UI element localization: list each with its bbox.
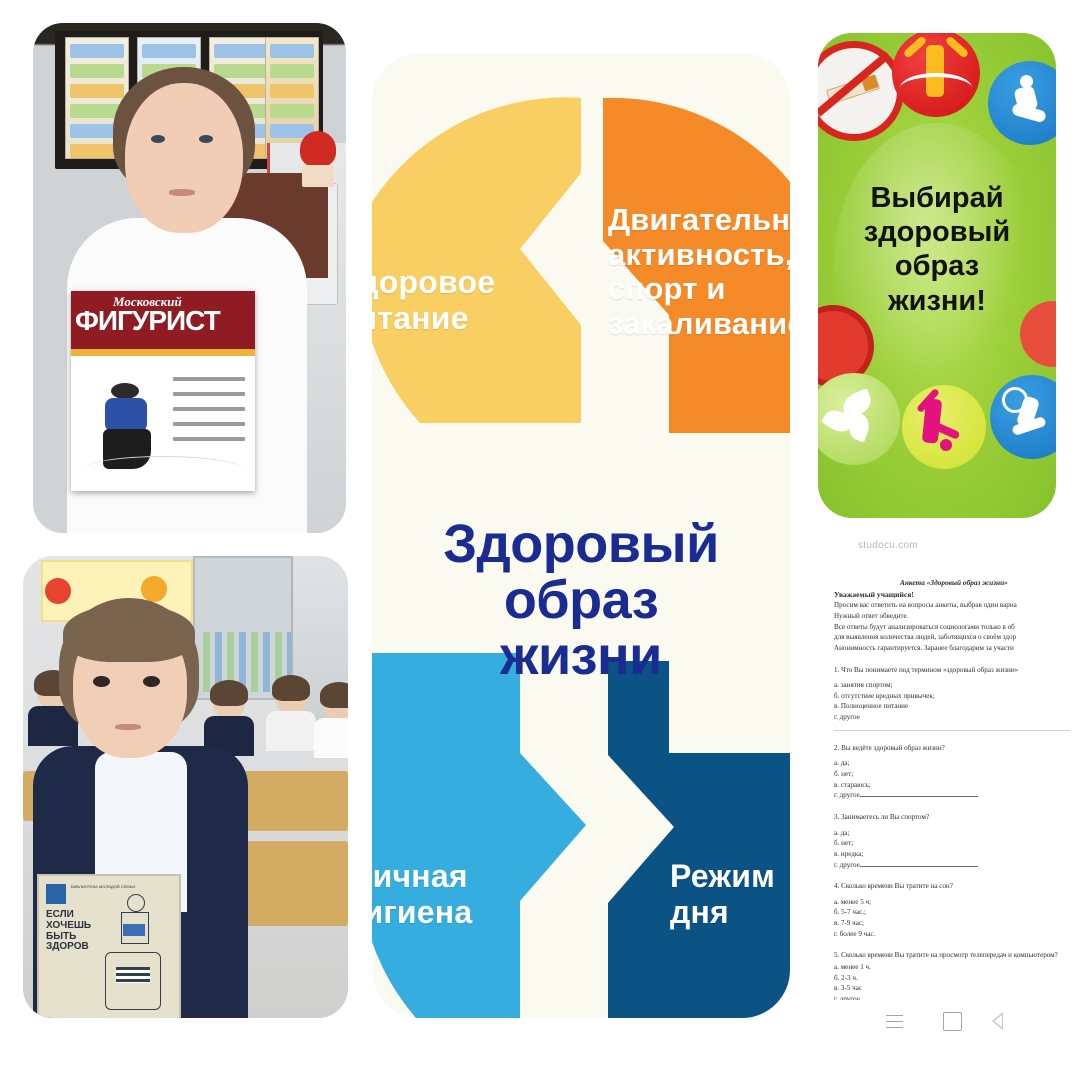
option[interactable]: б. 5-7 час.; — [834, 907, 1080, 918]
question-2: 2. Вы ведёте здоровый образ жизни? — [834, 743, 1080, 754]
write-in-blank[interactable] — [860, 790, 978, 797]
classmate-3 — [275, 681, 307, 715]
question-1-options: а. занятия спортом; б. отсутствие вредны… — [834, 680, 1080, 723]
option[interactable]: в. 3-5 час — [834, 983, 1080, 994]
option[interactable]: б. нет; — [834, 769, 1080, 780]
survey-intro-line-5: Анонимность гарантируется. Заранее благо… — [834, 643, 1080, 654]
ice-rink-line — [83, 456, 243, 483]
main-girl-mouth — [115, 724, 141, 730]
question-3-text: Занимаетесь ли Вы спортом? — [841, 813, 929, 821]
question-5-text: Сколько времени Вы тратите на просмотр т… — [841, 951, 1058, 959]
no-smoking-icon — [818, 41, 904, 141]
studocu-watermark: studocu.com — [858, 540, 918, 551]
gymnast-icon — [892, 33, 980, 117]
hamburger-icon[interactable] — [886, 1013, 903, 1030]
triangle-left-icon[interactable] — [1003, 1012, 1014, 1030]
flower-cutout-orange — [141, 576, 167, 602]
survey-intro-line-1: Просим вас ответить на вопросы анкеты, в… — [834, 600, 1080, 611]
photo-girl-in-classroom[interactable]: БИБЛИОТЕКА МОЛОДОЙ СЕМЬИ ЕСЛИ ХОЧЕШЬ БЫТ… — [23, 556, 348, 1018]
question-1-text: Что Вы понимаете под термином «здоровый … — [841, 666, 1018, 674]
magazine-masthead: Московский ФИГУРИСТ — [71, 291, 255, 349]
survey-body: Анкета «Здоровый образ жизни» Уважаемый … — [834, 578, 1080, 1014]
girl-eye-right — [199, 135, 213, 143]
question-4-number: 4. — [834, 882, 839, 890]
option[interactable]: а. да; — [834, 828, 1080, 839]
option[interactable]: в. иредка; — [834, 849, 1080, 860]
option[interactable]: а. менее 5 ч; — [834, 897, 1080, 908]
segment-label-hygiene: Личная гигиена — [372, 859, 472, 931]
question-3-number: 3. — [834, 813, 839, 821]
main-girl-eye-right — [143, 676, 160, 687]
option-label: г. другое — [834, 861, 860, 869]
book-title: ЕСЛИ ХОЧЕШЬ БЫТЬ ЗДОРОВ — [46, 910, 91, 953]
magazine-gold-bar — [71, 349, 255, 356]
magazine-main-title: ФИГУРИСТ — [75, 307, 220, 335]
question-divider — [834, 730, 1070, 732]
girl-eye-left — [151, 135, 165, 143]
survey-intro-line-3: Все ответы будут анализироваться социоло… — [834, 622, 1080, 633]
classmate-2 — [213, 686, 245, 720]
option[interactable]: в. Полноценное питание — [834, 701, 1080, 712]
question-3-options: а. да; б. нет; в. иредка; г. другое — [834, 828, 1080, 871]
tennis-player-icon — [990, 375, 1056, 459]
book-series-label: БИБЛИОТЕКА МОЛОДОЙ СЕМЬИ — [71, 885, 135, 890]
question-1-number: 1. — [834, 666, 839, 674]
question-1: 1. Что Вы понимаете под термином «здоров… — [834, 665, 1080, 676]
option[interactable]: а. занятия спортом; — [834, 680, 1080, 691]
footballer-icon — [902, 385, 986, 469]
option-with-blank[interactable]: г. другое — [834, 790, 1080, 801]
segment-regime-shape — [608, 661, 790, 1018]
question-2-options: а. да; б. нет; в. стараюсь; г. другое — [834, 758, 1080, 801]
book-illustration — [99, 894, 173, 1012]
option-label: г. другое — [834, 791, 860, 799]
option[interactable]: в. 7-9 час; — [834, 918, 1080, 929]
runner-icon — [988, 61, 1056, 145]
option-with-blank[interactable]: г. другое — [834, 860, 1080, 871]
photo-girl-with-magazine[interactable]: Московский ФИГУРИСТ — [33, 23, 346, 533]
question-5-number: 5. — [834, 951, 839, 959]
write-in-blank[interactable] — [860, 860, 978, 867]
healthy-lifestyle-cycle-infographic[interactable]: Здоровое питание Двигательная активность… — [372, 53, 790, 1018]
option[interactable]: в. стараюсь; — [834, 780, 1080, 791]
girl-mouth — [169, 189, 195, 196]
survey-greeting: Уважаемый учащийся! — [834, 589, 1080, 600]
choose-healthy-lifestyle-poster[interactable]: Выбирай здоровый образ жизни! — [818, 33, 1056, 518]
segment-label-activity: Двигательная активность, спорт и закалив… — [608, 203, 790, 342]
option[interactable]: б. нет; — [834, 838, 1080, 849]
segment-nutrition-shape — [372, 97, 581, 423]
survey-intro-line-4: для выявления количества людей, заботящи… — [834, 632, 1080, 643]
question-3: 3. Занимаетесь ли Вы спортом? — [834, 812, 1080, 823]
survey-questionnaire-document[interactable]: studocu.com Анкета «Здоровый образ жизни… — [820, 528, 1080, 1018]
option[interactable]: б. 2-3 ч. — [834, 973, 1080, 984]
survey-title: Анкета «Здоровый образ жизни» — [900, 578, 1080, 589]
question-2-text: Вы ведёте здоровый образ жизни? — [841, 744, 945, 752]
android-navigation-bar — [820, 1000, 1080, 1046]
magazine-headline-list — [173, 377, 245, 452]
main-girl-bangs — [63, 604, 195, 662]
question-5-options: а. менее 1 ч. б. 2-3 ч. в. 3-5 час г. др… — [834, 962, 1080, 1005]
question-4-options: а. менее 5 ч; б. 5-7 час.; в. 7-9 час; г… — [834, 897, 1080, 940]
option[interactable]: г. более 9 час. — [834, 929, 1080, 940]
question-4: 4. Сколько времени Вы тратите на сон? — [834, 881, 1080, 892]
option[interactable]: а. менее 1 ч. — [834, 962, 1080, 973]
question-5: 5. Сколько времени Вы тратите на просмот… — [834, 950, 1072, 961]
magazine-cover: Московский ФИГУРИСТ — [71, 291, 255, 491]
infographic-center-title: Здоровый образ жизни — [372, 516, 790, 684]
option[interactable]: а. да; — [834, 758, 1080, 769]
classmate-4 — [323, 688, 348, 722]
health-book-cover: БИБЛИОТЕКА МОЛОДОЙ СЕМЬИ ЕСЛИ ХОЧЕШЬ БЫТ… — [37, 874, 181, 1018]
question-4-text: Сколько времени Вы тратите на сон? — [841, 882, 953, 890]
leaf-icon — [818, 373, 900, 465]
segment-label-nutrition: Здоровое питание — [372, 265, 495, 337]
segment-hygiene-shape — [372, 653, 586, 1018]
girl-face — [125, 83, 243, 233]
photo-collage: Московский ФИГУРИСТ — [0, 0, 1080, 1080]
question-2-number: 2. — [834, 744, 839, 752]
book-publisher-logo — [46, 884, 66, 904]
flower-cutout-red — [45, 578, 71, 604]
square-icon[interactable] — [943, 1012, 962, 1031]
poster-headline: Выбирай здоровый образ жизни! — [818, 181, 1056, 318]
main-girl-eye-left — [93, 676, 110, 687]
survey-intro-line-2: Нужный ответ обведите. — [834, 611, 1080, 622]
flower-decoration — [298, 131, 338, 187]
option[interactable]: г. другое — [834, 712, 1080, 723]
option[interactable]: б. отсутствие вредных привычек; — [834, 691, 1080, 702]
segment-label-regime: Режим дня — [670, 859, 790, 931]
